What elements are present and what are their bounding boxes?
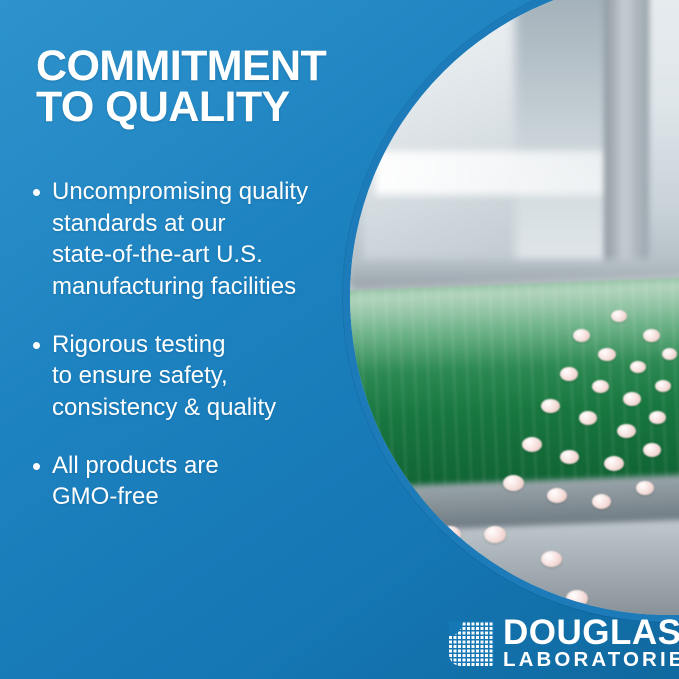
tablet (560, 367, 578, 381)
bullet-line: standards at our (52, 208, 308, 240)
tablet (592, 380, 609, 393)
logo-wordmark: DOUGLAS LABORATORIES® (503, 617, 679, 671)
list-item-text: Rigorous testing to ensure safety, consi… (52, 329, 276, 424)
list-item-text: All products are GMO-free (52, 450, 219, 513)
bullet-line: GMO-free (52, 481, 219, 513)
bullet-line: manufacturing facilities (52, 271, 308, 303)
page-title: COMMITMENT TO QUALITY (36, 46, 356, 128)
list-item: All products are GMO-free (30, 450, 360, 513)
bullet-line: Uncompromising quality (52, 176, 308, 208)
photo-circle (343, 0, 679, 622)
tablet (662, 348, 677, 360)
tablet (522, 437, 542, 452)
tablet (560, 450, 579, 464)
tablet (643, 443, 661, 457)
headline-line-1: COMMITMENT (36, 46, 356, 87)
logo-sub-text: LABORATORIES (503, 648, 679, 671)
bullet-line: consistency & quality (52, 392, 276, 424)
list-item: Uncompromising quality standards at our … (30, 176, 360, 303)
copy-column: COMMITMENT TO QUALITY Uncompromising qua… (0, 0, 360, 679)
tablet (484, 526, 506, 543)
bullet-dot-icon (33, 463, 40, 470)
logo-sub-name: LABORATORIES® (503, 650, 679, 671)
tablet (573, 329, 590, 342)
photo-light-strip (375, 151, 642, 196)
tablet (655, 380, 671, 392)
bullet-dot-icon (33, 342, 40, 349)
bullet-line: to ensure safety, (52, 360, 276, 392)
bullet-line: Rigorous testing (52, 329, 276, 361)
tablet (439, 526, 461, 543)
tablet (541, 399, 560, 413)
bullet-dot-icon (33, 189, 40, 196)
headline-line-2: TO QUALITY (36, 87, 356, 128)
bullet-line: state-of-the-art U.S. (52, 239, 308, 271)
list-item: Rigorous testing to ensure safety, consi… (30, 329, 360, 424)
tablet (592, 494, 611, 509)
grid-disc-icon (449, 621, 494, 666)
tablet (547, 488, 567, 503)
tablet (630, 361, 646, 373)
tablet (611, 310, 627, 322)
tablet (503, 475, 524, 491)
list-item-text: Uncompromising quality standards at our … (52, 176, 308, 303)
manufacturing-photo (350, 0, 679, 615)
promo-poster: COMMITMENT TO QUALITY Uncompromising qua… (0, 0, 679, 679)
benefits-list: Uncompromising quality standards at our … (30, 176, 360, 539)
tablet (643, 329, 660, 342)
tablet (598, 348, 616, 361)
brand-logo: DOUGLAS LABORATORIES® (449, 617, 679, 671)
logo-brand-name: DOUGLAS (503, 617, 679, 649)
bullet-line: All products are (52, 450, 219, 482)
tablet (566, 590, 588, 607)
